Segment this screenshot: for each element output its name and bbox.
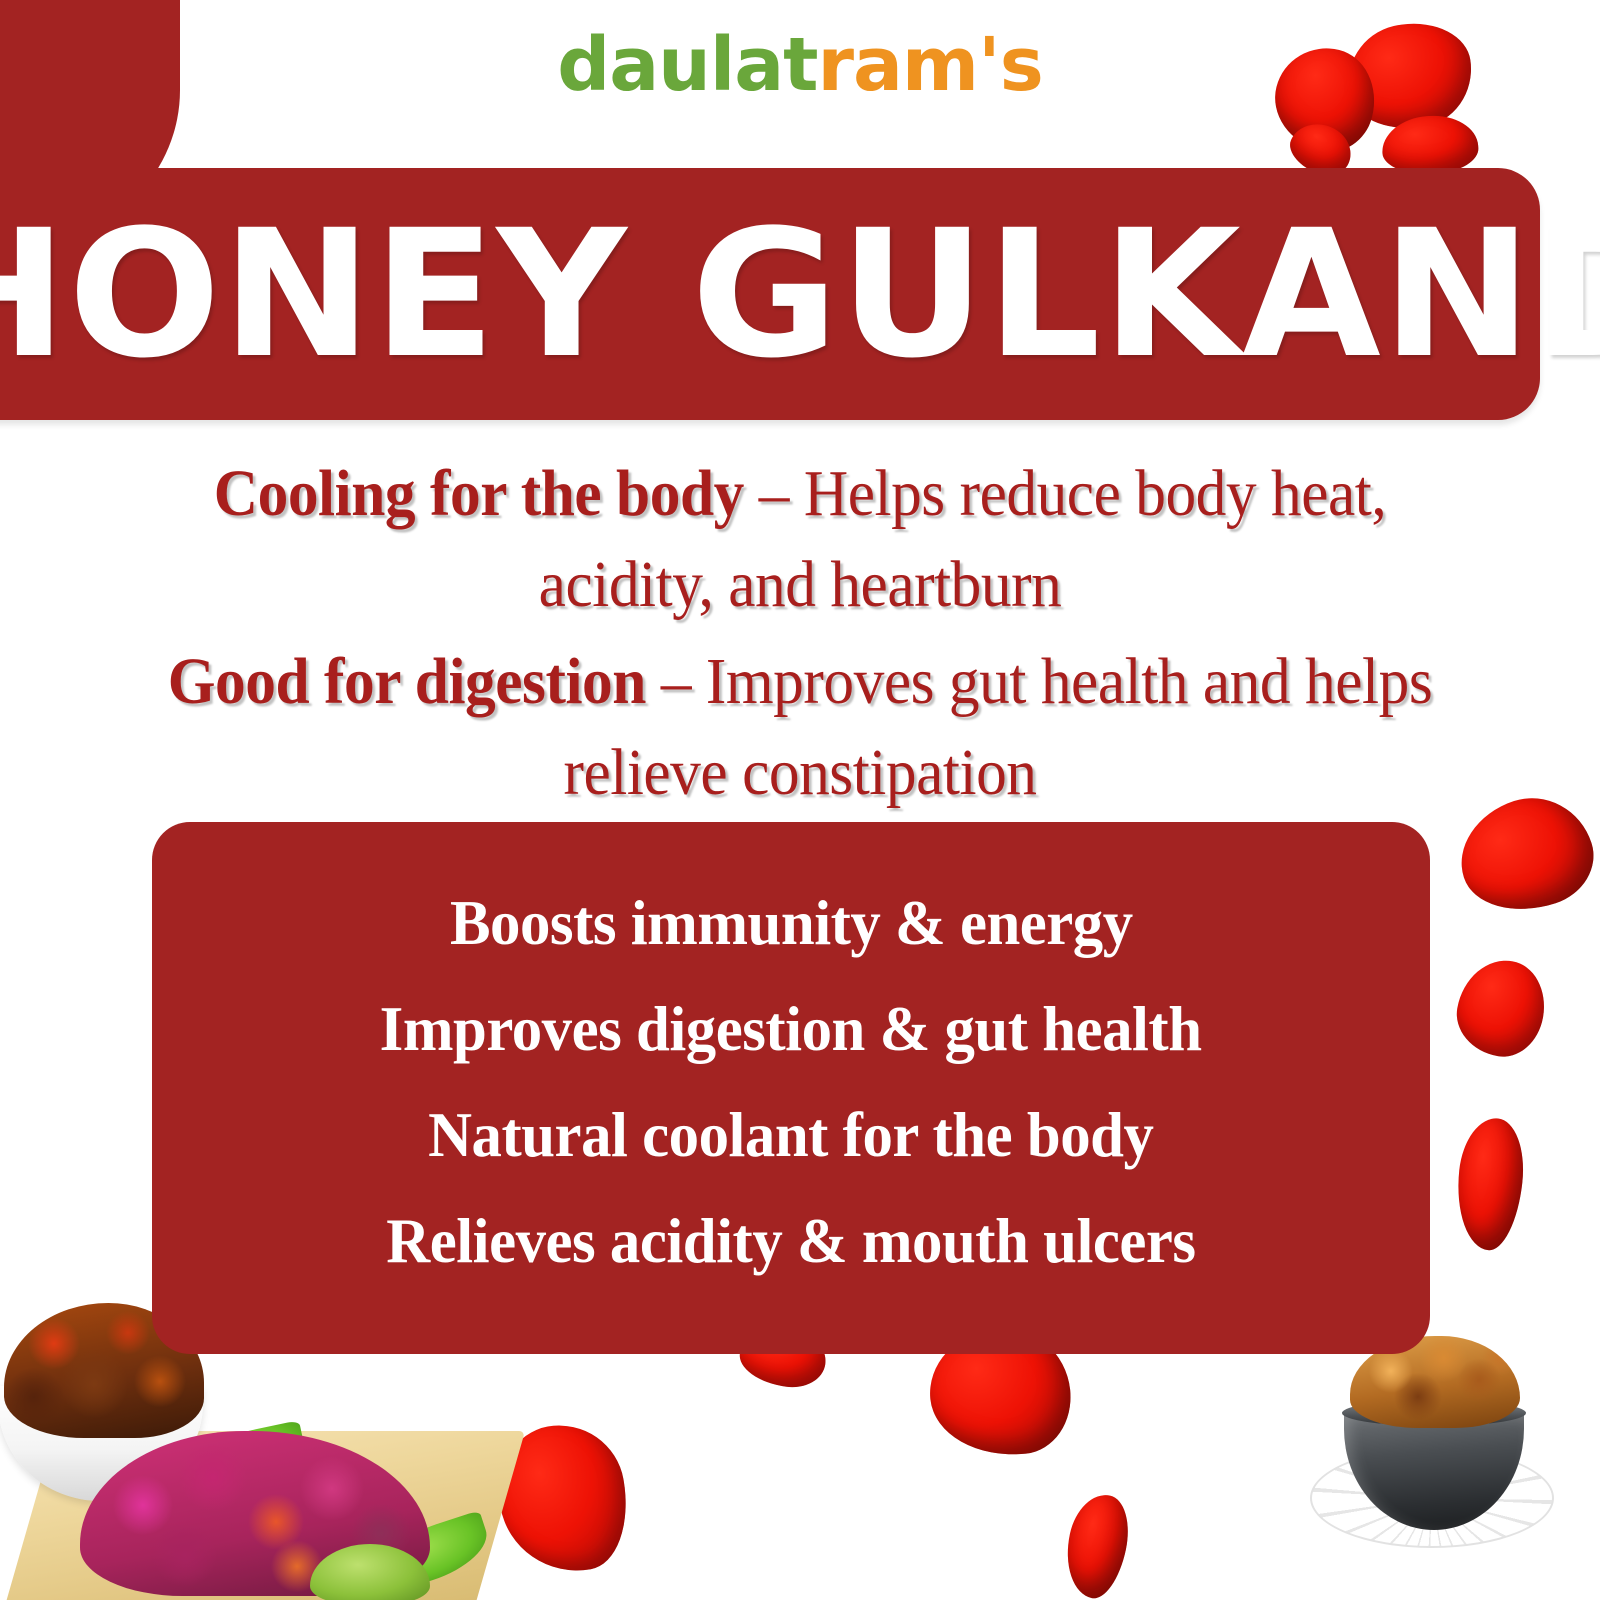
benefit-lead: Cooling for the body xyxy=(214,457,744,530)
brand-logo: daulatram's xyxy=(0,28,1600,102)
rose-petal-icon xyxy=(1058,1489,1136,1600)
poster-canvas: HONEY GULKAND daulatram's Cooling for th… xyxy=(0,0,1600,1600)
benefit-item: Good for digestion – Improves gut health… xyxy=(121,636,1479,818)
feature-line: Boosts immunity & energy xyxy=(450,891,1133,955)
benefits-list: Cooling for the body – Helps reduce body… xyxy=(70,448,1530,824)
brand-logo-part-green: daulat xyxy=(557,22,817,108)
feature-line: Natural coolant for the body xyxy=(428,1103,1153,1167)
page-title: HONEY GULKAND xyxy=(0,180,1600,410)
rose-petal-icon xyxy=(1451,1115,1528,1253)
benefits-feature-box: Boosts immunity & energy Improves digest… xyxy=(152,822,1430,1354)
benefit-rest: – Improves gut health and helps relieve … xyxy=(563,645,1432,809)
feature-line: Improves digestion & gut health xyxy=(380,997,1202,1061)
benefit-lead: Good for digestion xyxy=(168,645,646,718)
brand-logo-part-orange: ram's xyxy=(818,22,1043,108)
rose-petal-icon xyxy=(1450,953,1551,1062)
feature-line: Relieves acidity & mouth ulcers xyxy=(386,1209,1195,1273)
benefit-item: Cooling for the body – Helps reduce body… xyxy=(121,448,1479,630)
